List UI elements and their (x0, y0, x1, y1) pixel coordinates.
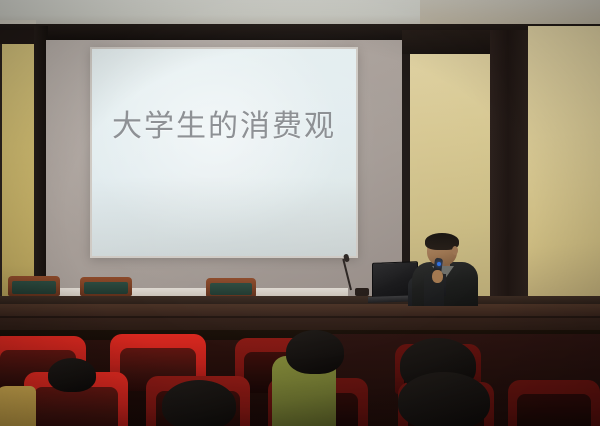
audience-member-3-head (162, 380, 236, 426)
lecture-hall-photo: 大学生的消费观 (0, 0, 600, 426)
chair-cushion (84, 282, 128, 294)
speaker-ear (452, 246, 458, 255)
audience-seat-front-5 (508, 380, 600, 426)
microphone-indicator-light (437, 262, 441, 266)
speaker-hand (432, 270, 443, 283)
gooseneck-microphone-base (355, 288, 369, 296)
wall-pillar-right (490, 30, 530, 335)
seat-interior (517, 394, 591, 426)
projection-screen: 大学生的消费观 (92, 49, 356, 256)
chair-cushion (12, 281, 56, 293)
ceiling-right-section (420, 0, 600, 27)
audience-member-4-head (286, 330, 344, 374)
stage-chair-3 (206, 278, 256, 297)
audience-member-6-head (398, 372, 490, 426)
wall-right (528, 26, 600, 336)
stage-trim-line (0, 316, 600, 318)
seat-interior (34, 387, 117, 426)
chair-cushion (210, 283, 252, 295)
slide-title-text: 大学生的消费观 (92, 101, 356, 145)
stage-chair-1 (8, 276, 60, 296)
audience-member-1-jacket (0, 386, 36, 426)
audience-member-2-head (48, 358, 96, 392)
stage-chair-2 (80, 277, 132, 296)
